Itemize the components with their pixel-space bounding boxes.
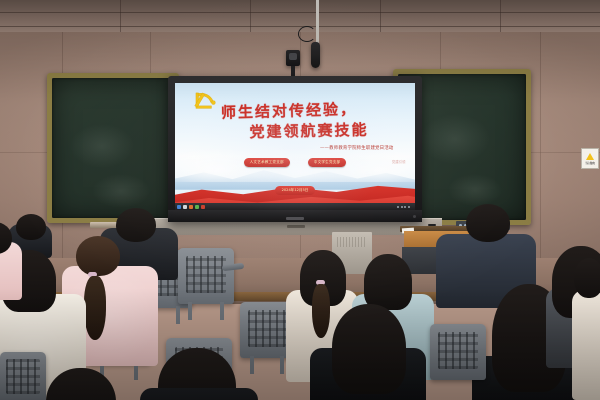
tray-icon[interactable] <box>401 206 403 208</box>
app-icon[interactable] <box>189 205 193 209</box>
chair[interactable] <box>0 352 46 400</box>
slide-date-badge: 2024年12月5日 <box>175 176 415 195</box>
taskbar-system-tray[interactable] <box>397 206 413 208</box>
ponytail <box>312 284 330 338</box>
audience-area <box>0 228 600 400</box>
left-chalkboard <box>52 78 174 218</box>
person-head <box>574 258 600 298</box>
volume-icon[interactable] <box>408 206 410 208</box>
windows-taskbar[interactable] <box>175 203 415 210</box>
app-icon[interactable] <box>195 205 199 209</box>
slide-title: 师生结对传经验， 党建领航赛技能 <box>175 103 415 140</box>
slide-badge-row: 人文艺术教工党支部 中文学生党支部 <box>175 158 415 167</box>
ceiling-microphone <box>311 42 320 68</box>
warning-sign-label: 当心触电 <box>585 161 595 165</box>
interactive-smart-board[interactable]: 师生结对传经验， 党建领航赛技能 ——教师教育学院师生职建党日活动 人文艺术教工… <box>168 76 422 222</box>
person-body <box>140 388 258 400</box>
taskbar-app-icons[interactable] <box>177 205 205 209</box>
slide-title-line-1: 师生结对传经验， <box>175 100 409 123</box>
ponytail <box>84 276 106 340</box>
warning-triangle-icon <box>586 153 594 160</box>
display-brand-logo <box>286 217 304 220</box>
tray-icon[interactable] <box>397 206 399 208</box>
camera-lens-icon <box>289 53 297 60</box>
chair[interactable] <box>430 324 486 380</box>
slide-badge: 中文学生党支部 <box>308 158 347 167</box>
person-head <box>466 204 510 242</box>
slide-watermark: 党建引领 <box>392 159 406 164</box>
microphone-cable-loop-icon <box>298 26 316 42</box>
start-icon[interactable] <box>177 205 181 209</box>
slide-title-line-2: 党建领航赛技能 <box>189 121 415 143</box>
chair[interactable] <box>178 248 234 304</box>
slide-date-label: 2024年12月5日 <box>275 186 316 195</box>
explorer-icon[interactable] <box>183 205 187 209</box>
classroom-photo-scene: 当心触电 <box>0 0 600 400</box>
network-icon[interactable] <box>404 206 406 208</box>
person-head <box>16 214 46 240</box>
presentation-screen[interactable]: 师生结对传经验， 党建领航赛技能 ——教师教育学院师生职建党日活动 人文艺术教工… <box>175 83 415 210</box>
ir-sensor-icon <box>413 215 416 218</box>
person-head <box>332 304 406 394</box>
slide-badge: 人文艺术教工党支部 <box>244 158 290 167</box>
slide-subtitle: ——教师教育学院师生职建党日活动 <box>320 145 393 151</box>
microphone-cord <box>316 0 319 44</box>
display-bezel <box>168 210 422 222</box>
powerpoint-icon[interactable] <box>201 205 205 209</box>
electrical-warning-sign: 当心触电 <box>581 148 599 169</box>
wall-camera <box>286 50 300 66</box>
pen-icon <box>428 224 436 226</box>
person-head <box>116 208 156 242</box>
person-body <box>572 290 600 400</box>
person-head <box>364 254 412 310</box>
person-head <box>76 236 120 276</box>
